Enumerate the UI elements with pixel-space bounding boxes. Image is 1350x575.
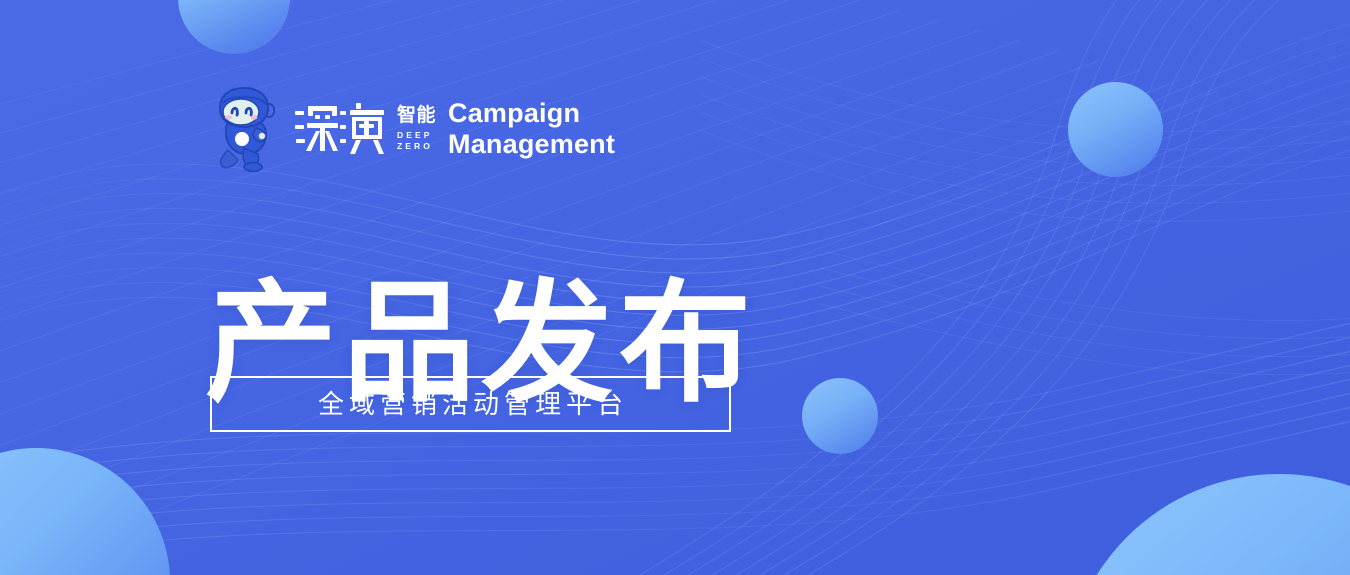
- brand-logo-lockup: 智能 DEEP ZERO Campaign Management: [210, 83, 615, 175]
- brand-product-name: Campaign Management: [448, 98, 615, 161]
- banner-content: 智能 DEEP ZERO Campaign Management 产品发布 全域…: [0, 0, 1350, 575]
- subtitle-text: 全域营销活动管理平台: [313, 391, 628, 417]
- brand-sub-lockup: 智能 DEEP ZERO: [397, 101, 436, 157]
- brand-wordmark: 智能 DEEP ZERO Campaign Management: [294, 92, 615, 166]
- product-launch-banner: 智能 DEEP ZERO Campaign Management 产品发布 全域…: [0, 0, 1350, 575]
- brand-sub-en: DEEP ZERO: [397, 130, 436, 152]
- robot-mascot-icon: [210, 86, 284, 172]
- subtitle-box: 全域营销活动管理平台: [210, 376, 731, 432]
- wordmark-shenyan-logo: [294, 102, 390, 156]
- brand-sub-cn: 智能: [397, 106, 436, 125]
